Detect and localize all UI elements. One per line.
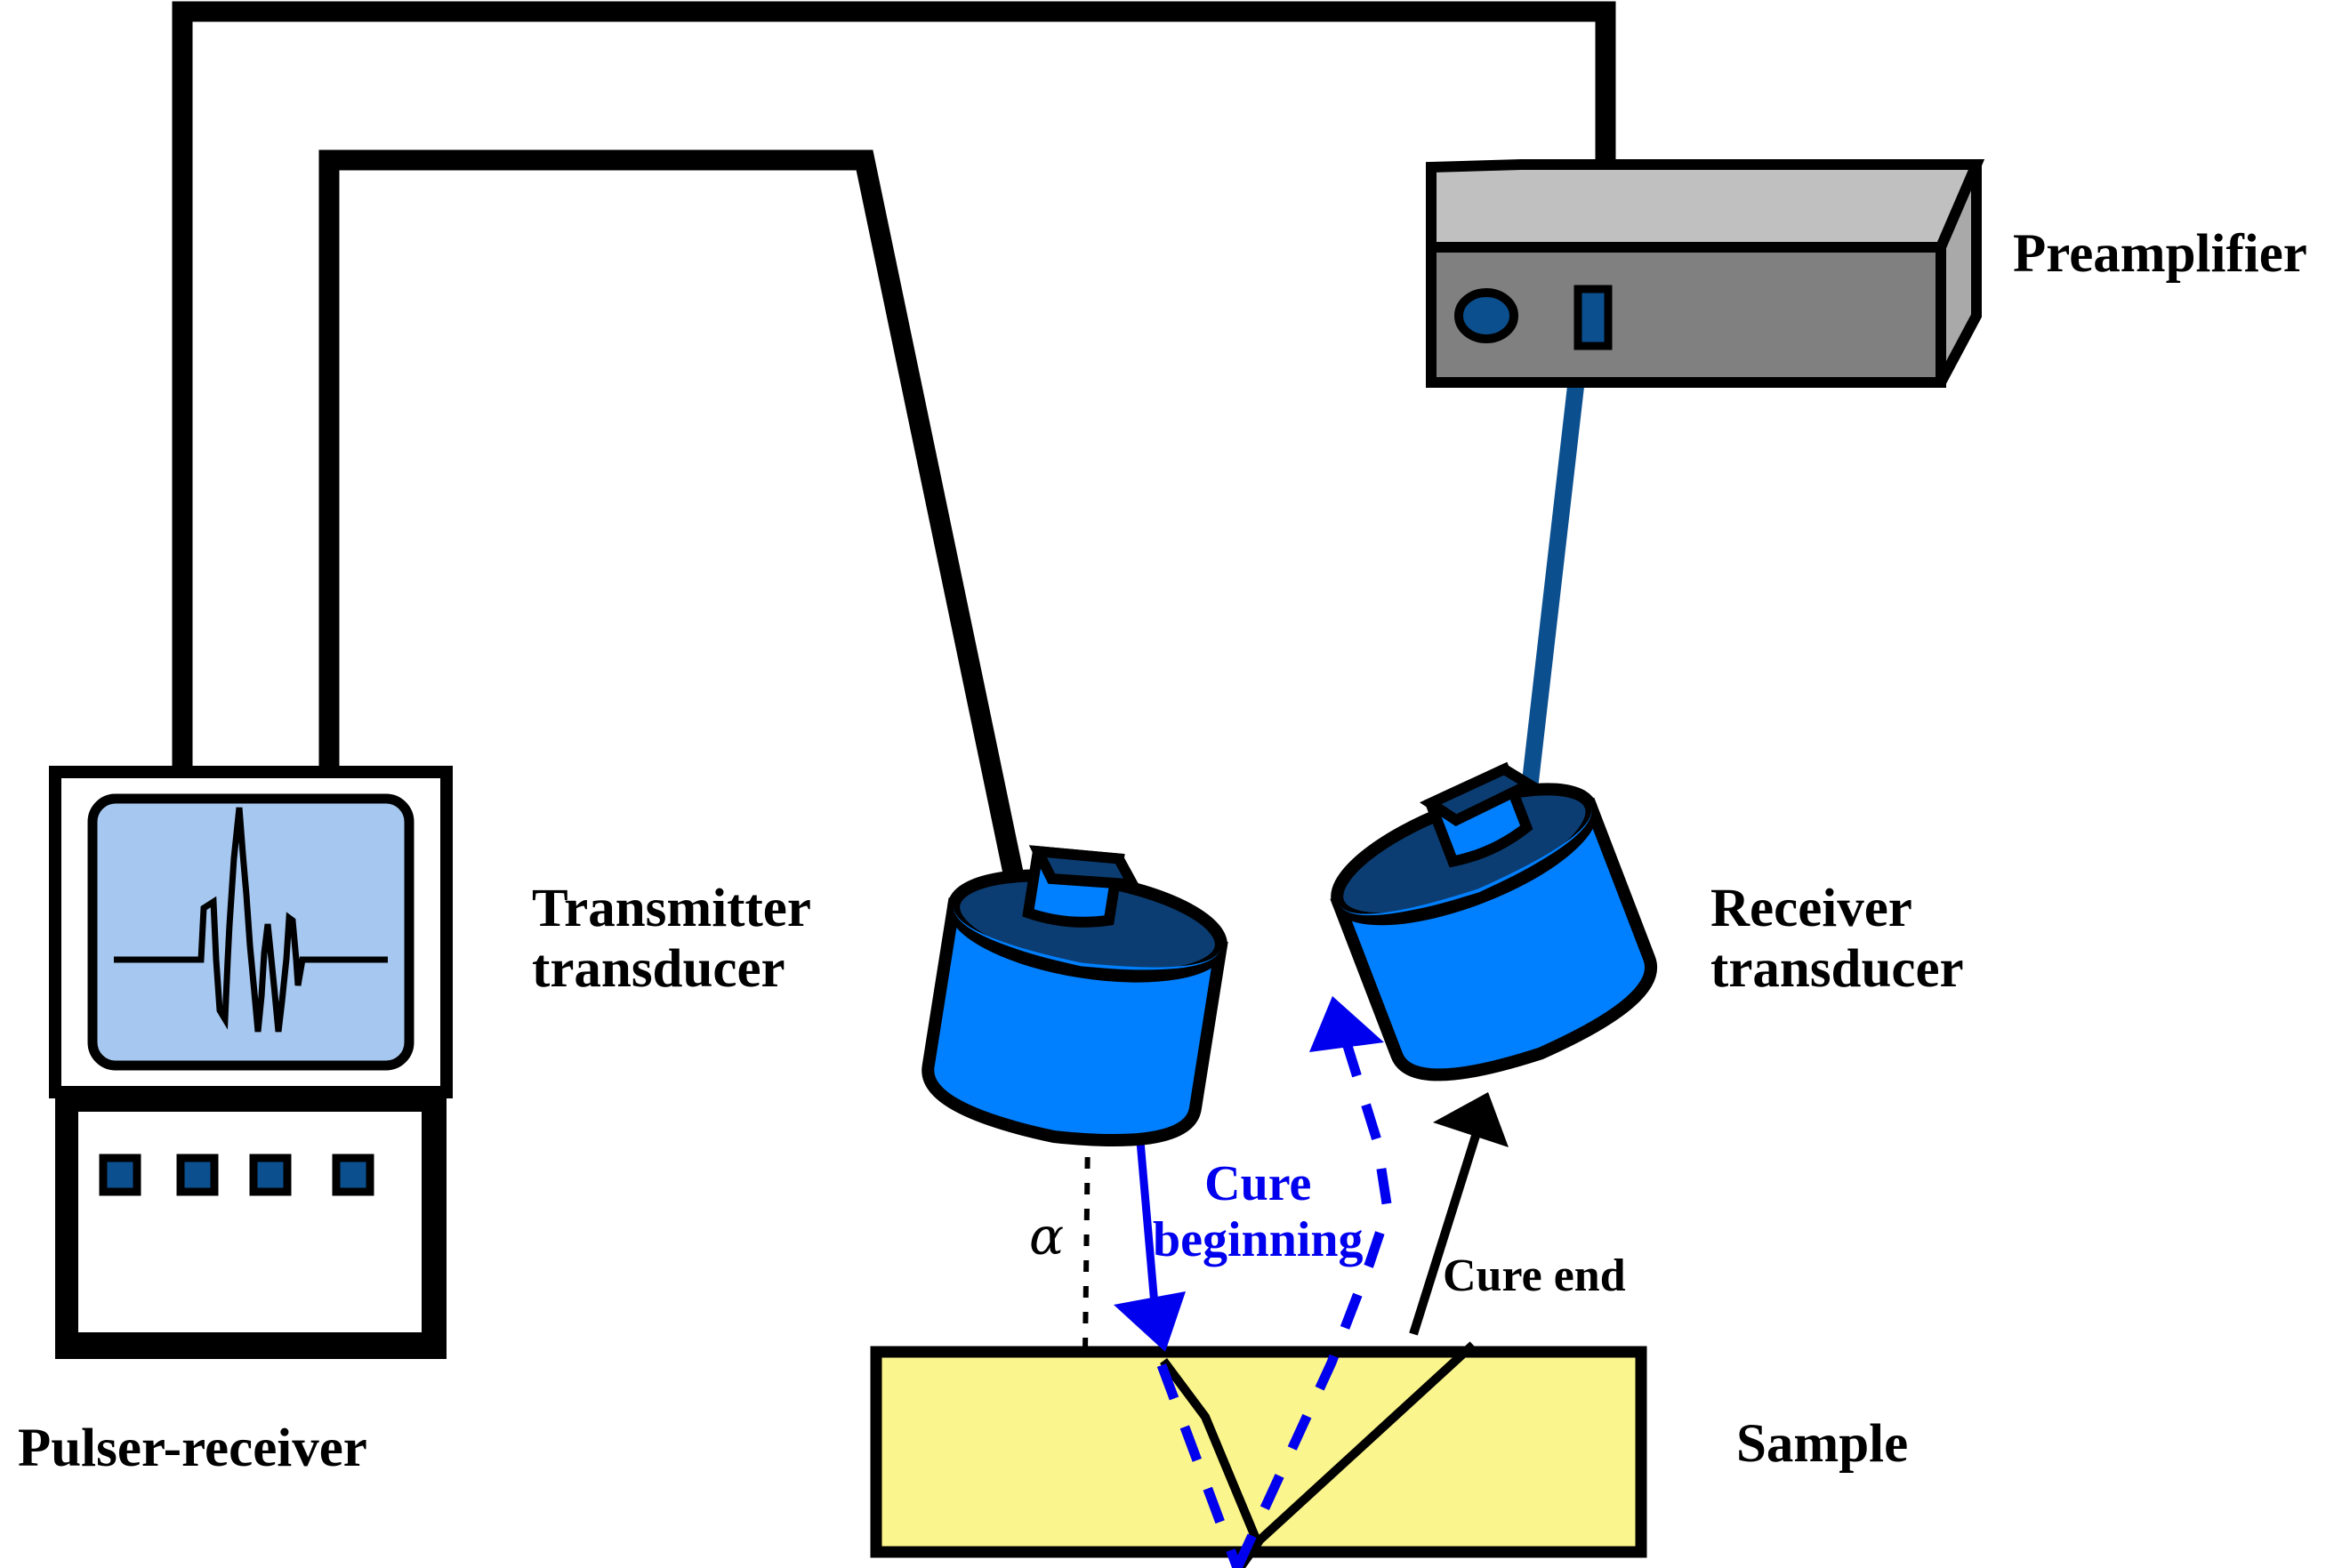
pulser-control-face xyxy=(78,1112,422,1332)
pulser-button-3[interactable] xyxy=(254,1158,287,1192)
diagram-vector-layer xyxy=(0,0,2342,1568)
receiver-label-line2: transducer xyxy=(1710,939,1964,999)
receiver-transducer-label: Receivertransducer xyxy=(1710,879,1964,1001)
pulser-button-1[interactable] xyxy=(103,1158,137,1192)
transmitter-transducer[interactable] xyxy=(921,834,1232,1158)
cure-beginning-line1: Cure xyxy=(1204,1156,1311,1211)
pulser-button-2[interactable] xyxy=(181,1158,214,1192)
diagram-canvas: Preamplifier Transmittertransducer Recei… xyxy=(0,0,2342,1568)
transmitter-transducer-label: Transmittertransducer xyxy=(532,879,811,1001)
cure-beginning-line2: beginning xyxy=(1153,1212,1364,1267)
cable-preamplifier-to-receiver xyxy=(1525,382,1576,832)
pulser-button-4[interactable] xyxy=(336,1158,370,1192)
receiver-transducer[interactable] xyxy=(1315,745,1667,1102)
transmitter-label-line1: Transmitter xyxy=(532,879,811,938)
sample-label: Sample xyxy=(1736,1414,1908,1475)
preamplifier-label: Preamplifier xyxy=(2013,224,2307,285)
incidence-angle-label: α xyxy=(1029,1208,1064,1266)
preamplifier-unit[interactable] xyxy=(1431,165,1976,382)
cure-beginning-arrowhead-down xyxy=(1114,1291,1186,1352)
transmitter-label-line2: transducer xyxy=(532,939,785,999)
pulser-receiver-label: Pulser-receiver xyxy=(18,1419,367,1479)
preamplifier-indicator-icon[interactable] xyxy=(1578,289,1608,346)
normal-reference-line xyxy=(1085,1131,1088,1352)
preamplifier-knob-icon[interactable] xyxy=(1459,293,1514,339)
cure-beginning-label: Curebeginning xyxy=(1153,1156,1364,1267)
pulser-receiver-unit[interactable] xyxy=(55,772,447,1359)
cure-end-label: Cure end xyxy=(1443,1250,1626,1302)
sample-block xyxy=(876,1352,1641,1552)
cable-pulser-to-preamplifier xyxy=(182,12,1606,774)
receiver-label-line1: Receiver xyxy=(1710,879,1912,938)
preamplifier-top-face xyxy=(1431,165,1976,247)
